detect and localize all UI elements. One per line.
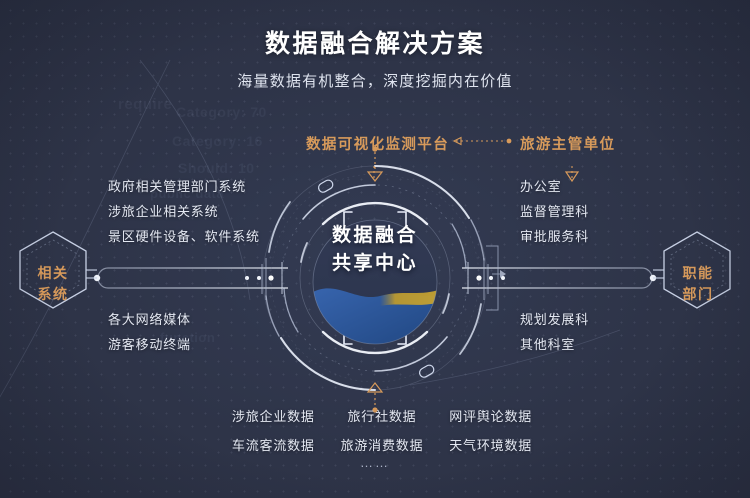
background-vignette [0, 0, 750, 498]
infographic-canvas: require Category: 70 Category: 16 Should… [0, 0, 750, 498]
